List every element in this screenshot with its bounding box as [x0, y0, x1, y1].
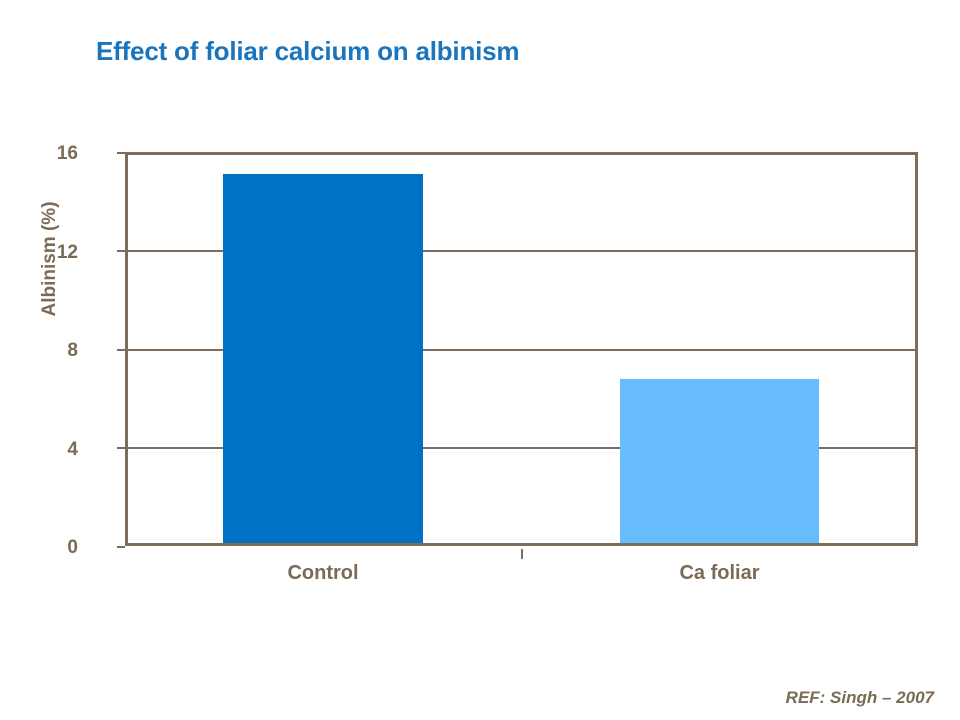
x-tick-mark-separator: [521, 549, 523, 559]
plot-area: [125, 152, 918, 546]
y-tick-label-12: 12: [18, 243, 78, 262]
y-tick-mark-12: [117, 250, 125, 252]
y-tick-mark-0: [117, 546, 125, 548]
y-tick-mark-8: [117, 349, 125, 351]
reference-note: REF: Singh – 2007: [0, 688, 934, 708]
y-tick-mark-16: [117, 152, 125, 154]
y-tick-label-4: 4: [18, 440, 78, 459]
y-tick-label-0: 0: [18, 538, 78, 557]
x-category-label-control: Control: [223, 562, 423, 585]
x-category-label-ca-foliar: Ca foliar: [620, 562, 819, 585]
bar-ca-foliar[interactable]: [620, 379, 819, 543]
slide-canvas: Effect of foliar calcium on albinism Alb…: [0, 0, 960, 720]
y-tick-mark-4: [117, 447, 125, 449]
y-tick-label-16: 16: [18, 144, 78, 163]
y-tick-label-8: 8: [18, 341, 78, 360]
bar-control[interactable]: [223, 174, 423, 543]
page-title: Effect of foliar calcium on albinism: [96, 36, 519, 67]
